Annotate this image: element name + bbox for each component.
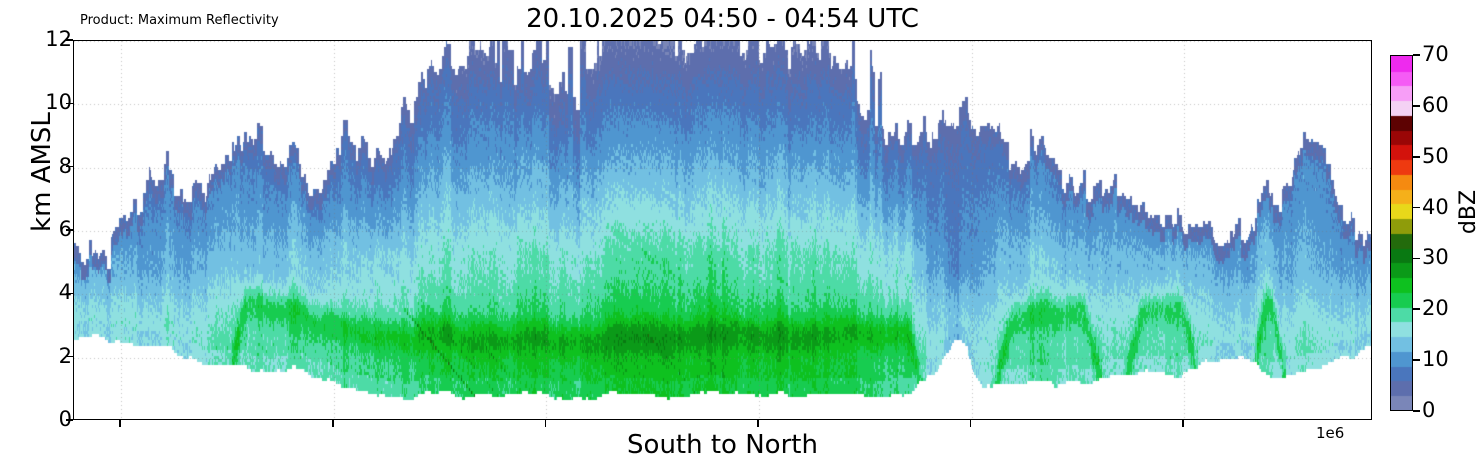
colorbar-tick-label: 20 xyxy=(1422,298,1449,319)
colorbar-tick-mark xyxy=(1413,258,1420,260)
colorbar-tick-mark xyxy=(1413,410,1420,412)
colorbar-label: dBZ xyxy=(1457,152,1481,272)
y-tick-label: 2 xyxy=(59,346,72,367)
colorbar-tick-mark xyxy=(1413,54,1420,56)
x-tick-mark xyxy=(332,420,334,427)
y-axis-label: km AMSL xyxy=(28,92,56,252)
y-tick-label: 10 xyxy=(45,92,72,113)
radar-cross-section-figure: 20.10.2025 04:50 - 04:54 UTC Product: Ma… xyxy=(0,0,1482,470)
colorbar-tick-label: 10 xyxy=(1422,349,1449,370)
colorbar xyxy=(1390,55,1413,411)
y-tick-label: 0 xyxy=(59,409,72,430)
x-tick-mark xyxy=(119,420,121,427)
y-tick-label: 12 xyxy=(45,29,72,50)
colorbar-gradient xyxy=(1391,56,1412,410)
radar-reflectivity-heatmap xyxy=(74,41,1372,420)
x-tick-mark xyxy=(970,420,972,427)
x-axis-offset-label: 1e6 xyxy=(1316,424,1344,442)
x-tick-mark xyxy=(545,420,547,427)
product-annotation: Product: Maximum Reflectivity xyxy=(80,13,279,29)
colorbar-tick-mark xyxy=(1413,156,1420,158)
colorbar-tick-mark xyxy=(1413,105,1420,107)
colorbar-tick-mark xyxy=(1413,207,1420,209)
colorbar-tick-label: 70 xyxy=(1422,44,1449,65)
colorbar-tick-label: 30 xyxy=(1422,247,1449,268)
y-tick-label: 6 xyxy=(59,219,72,240)
colorbar-tick-label: 50 xyxy=(1422,146,1449,167)
colorbar-tick-label: 60 xyxy=(1422,95,1449,116)
x-tick-mark xyxy=(757,420,759,427)
plot-area[interactable] xyxy=(73,40,1372,420)
x-tick-mark xyxy=(1182,420,1184,427)
colorbar-tick-label: 40 xyxy=(1422,197,1449,218)
colorbar-tick-mark xyxy=(1413,359,1420,361)
y-tick-label: 4 xyxy=(59,282,72,303)
colorbar-tick-mark xyxy=(1413,308,1420,310)
x-axis-label: South to North xyxy=(73,430,1372,460)
y-tick-label: 8 xyxy=(59,156,72,177)
colorbar-tick-label: 0 xyxy=(1422,400,1435,421)
